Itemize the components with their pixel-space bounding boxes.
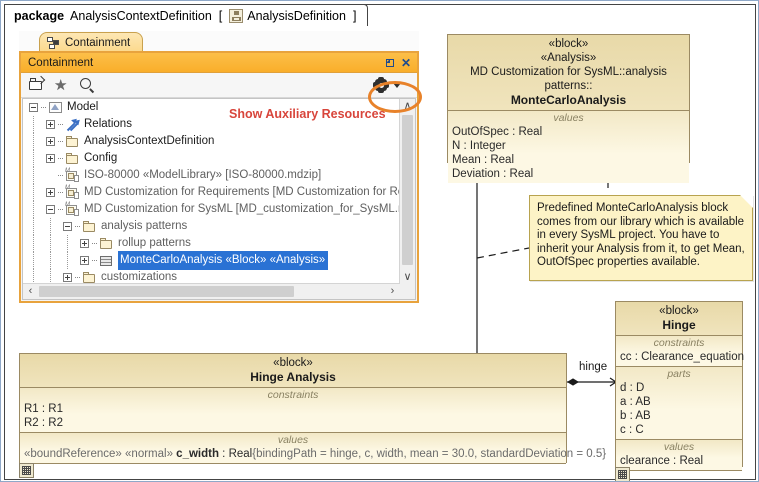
stereotype-analysis: «Analysis» [452,51,685,65]
value-property: Deviation : Real [448,167,689,181]
package-keyword: package [14,9,64,23]
block-hinge[interactable]: «block» Hinge constraints cc : Clearance… [615,301,743,467]
tree-scroll-viewport: ModelRelationsAnalysisContextDefinitionC… [23,99,400,284]
vertical-scroll-thumb[interactable] [402,115,413,265]
folder-icon [65,152,80,166]
containment-panel-wrapper: Containment Containment ✕ ★ [19,31,419,303]
compartment-title-parts: parts [616,367,742,381]
note-fold-corner [740,195,753,208]
package-name: AnalysisContextDefinition [70,9,212,23]
tree-item-rollup-patterns[interactable]: rollup patterns [23,235,400,252]
tree-connector-dots [41,101,48,114]
part-property: d : D [616,381,742,395]
tree-guide-line [33,167,34,184]
block-header-montecarloanalysis: «block» «Analysis» MD Customization for … [448,35,689,111]
tree-item-label: MonteCarloAnalysis «Block» «Analysis» [118,251,328,270]
toolbar-right-group [371,75,411,95]
tree-connector-dots [58,169,65,182]
options-group[interactable] [371,75,409,95]
relations-icon [65,118,80,132]
containment-panel: Containment ✕ ★ [19,51,419,303]
bound-reference-stereotypes: «boundReference» «normal» [24,448,173,460]
compartment-constraints: constraints R1 : R1 R2 : R2 [20,388,566,433]
scroll-up-arrow[interactable]: ∧ [400,99,415,113]
tree-item-md-customization-for-requirements-md-cus[interactable]: MMD Customization for Requirements [MD C… [23,184,400,201]
stereotype-block: «block» [24,356,562,370]
panel-title-label: Containment [28,57,93,69]
tree-guide-line [33,150,34,167]
note-line: inherit your Analysis from it, to get Me… [537,243,746,257]
tree-no-toggle [44,169,57,182]
restore-icon[interactable] [383,56,397,70]
tree-guide-line [33,235,34,252]
search-icon[interactable] [77,75,98,95]
note-line: OutOfSpec properties available. [537,256,746,270]
diagram-reference-icon[interactable] [19,463,34,478]
compartment-constraints: constraints cc : Clearance_equation [616,336,742,367]
tree-indent [23,167,44,184]
diagram-canvas: package AnalysisContextDefinition [ Anal… [0,0,759,482]
tree-collapse-toggle[interactable] [44,203,57,216]
tab-containment[interactable]: Containment [39,32,143,52]
constraint-property: R1 : R1 [20,402,566,416]
part-property: b : AB [616,409,742,423]
compartment-values: values OutOfSpec : Real N : Integer Mean… [448,111,689,183]
compartment-parts: parts d : D a : AB b : AB c : C [616,367,742,440]
compartment-title-constraints: constraints [616,336,742,350]
tree-guide-line [33,184,34,201]
block-hinge-analysis[interactable]: «block» Hinge Analysis constraints R1 : … [19,353,567,463]
tree-connector-dots [58,135,65,148]
tree-item-label: Relations [84,116,132,133]
folder-icon [99,237,114,251]
tree-guide-line [33,133,34,150]
tree-guide-line [50,252,51,269]
tree-guide-line [33,269,34,284]
tree-connector-dots [58,186,65,199]
tree-indent [23,218,61,235]
star-icon[interactable]: ★ [52,75,73,95]
package-header-tab: package AnalysisContextDefinition [ Anal… [4,4,368,26]
tree-indent [23,116,44,133]
qualified-namespace: MD Customization for SysML::analysis pat… [452,65,685,93]
constraint-property: R2 : R2 [20,416,566,430]
tree-horizontal-scrollbar[interactable]: ‹ › [23,283,400,299]
tree-indent [23,201,44,218]
bound-reference-binding: {bindingPath = hinge, c, width, mean = 3… [252,448,606,460]
note-line: in every SysML project. You have to [537,229,746,243]
folder-icon [82,271,97,285]
tree-item-iso-80000-modellibrary-iso-80000-mdzip[interactable]: MISO-80000 «ModelLibrary» [ISO-80000.mdz… [23,167,400,184]
diagram-name: AnalysisDefinition [247,9,346,23]
module-icon: M [65,203,80,217]
block-name-hinge-analysis: Hinge Analysis [24,370,562,384]
tree-item-label: Model [67,99,98,116]
constraint-property: cc : Clearance_equation [616,350,742,364]
tree-vertical-scrollbar[interactable]: ∧ ∨ [399,99,415,284]
scroll-left-arrow[interactable]: ‹ [23,284,38,298]
tree-guide-line [67,252,68,269]
tree-item-customizations[interactable]: customizations [23,269,400,284]
block-icon [99,254,114,268]
connector-label-hinge: hinge [579,361,607,373]
tree-connector-dots [92,254,99,267]
tree-connector-dots [92,237,99,250]
tree-item-config[interactable]: Config [23,150,400,167]
folder-icon [82,220,97,234]
value-property: clearance : Real [616,454,742,468]
horizontal-scroll-thumb[interactable] [39,286,294,297]
folder-icon [65,135,80,149]
panel-tab-strip: Containment [19,31,419,52]
tree-indent [23,235,78,252]
tree-expand-toggle[interactable] [44,118,57,131]
tree-connector-dots [58,118,65,131]
close-icon[interactable]: ✕ [399,56,413,70]
tree-item-label: analysis patterns [101,218,187,235]
panel-title-bar: Containment ✕ [21,53,417,73]
tree-expand-toggle[interactable] [44,135,57,148]
part-property: c : C [616,423,742,437]
tree-expand-toggle[interactable] [78,237,91,250]
containment-tree-icon [47,37,60,49]
tree-indent [23,184,44,201]
tree-indent [23,133,44,150]
compartment-title-values: values [448,111,689,125]
chevron-down-icon[interactable] [393,83,401,88]
containment-tree[interactable]: ModelRelationsAnalysisContextDefinitionC… [22,98,416,300]
tree-item-label: rollup patterns [118,235,191,252]
block-name-montecarloanalysis: MonteCarloAnalysis [452,93,685,107]
bound-reference-property: «boundReference» «normal» c_width : Real… [20,447,566,461]
bracket-open: [ [219,9,222,23]
tree-guide-line [50,269,51,284]
block-definition-diagram-icon [229,9,243,23]
tree-item-label: AnalysisContextDefinition [84,133,214,150]
bracket-close: ] [353,9,356,23]
tree-row-list: ModelRelationsAnalysisContextDefinitionC… [23,99,400,284]
value-property: OutOfSpec : Real [448,125,689,139]
module-icon: M [65,169,80,183]
scroll-right-arrow[interactable]: › [385,284,400,298]
compartment-values: values «boundReference» «normal» c_width… [20,433,566,464]
gear-icon[interactable] [373,77,389,93]
tree-connector-dots [58,203,65,216]
panel-toolbar: ★ [21,73,417,98]
stereotype-block: «block» [620,304,738,318]
scroll-down-arrow[interactable]: ∨ [400,270,415,284]
tree-item-label: MD Customization for Requirements [MD Cu… [84,184,400,201]
tree-item-analysiscontextdefinition[interactable]: AnalysisContextDefinition [23,133,400,150]
tree-item-label: ISO-80000 «ModelLibrary» [ISO-80000.mdzi… [84,167,321,184]
tree-connector-dots [58,152,65,165]
compartment-values: values clearance : Real [616,440,742,471]
tree-guide-line [50,235,51,252]
stereotype-block: «block» [452,37,685,51]
show-auxiliary-resources-annotation: Show Auxiliary Resources [229,107,386,121]
tree-guide-line [67,235,68,252]
compartment-title-constraints: constraints [20,388,566,402]
model-icon [48,101,63,115]
tree-item-montecarloanalysis-block-analysis[interactable]: MonteCarloAnalysis «Block» «Analysis» [23,252,400,269]
tree-guide-line [33,252,34,269]
tree-guide-line [33,218,34,235]
tree-item-label: customizations [101,269,177,284]
diagram-reference-icon[interactable] [615,467,630,482]
note-line: Predefined MonteCarloAnalysis block [537,202,746,216]
tree-indent [23,150,44,167]
bound-reference-type: : Real [219,448,252,460]
tree-collapse-toggle[interactable] [61,220,74,233]
tree-item-analysis-patterns[interactable]: analysis patterns [23,218,400,235]
note-line: comes from our library which is availabl… [537,216,746,230]
block-header-hinge-analysis: «block» Hinge Analysis [20,354,566,388]
value-property: N : Integer [448,139,689,153]
tab-containment-label: Containment [65,37,130,49]
comment-note[interactable]: Predefined MonteCarloAnalysis block come… [529,195,753,281]
tree-item-label: Config [84,150,117,167]
tree-connector-dots [75,220,82,233]
tree-expand-toggle[interactable] [78,254,91,267]
scrollbar-corner [400,284,415,299]
tree-guide-line [33,201,34,218]
open-in-new-window-icon[interactable] [27,75,48,95]
module-icon: M [65,186,80,200]
tree-guide-line [50,218,51,235]
tree-expand-toggle[interactable] [44,186,57,199]
tree-indent [23,252,78,269]
block-header-hinge: «block» Hinge [616,302,742,336]
tree-collapse-toggle[interactable] [27,101,40,114]
tree-indent [23,269,61,284]
block-montecarloanalysis[interactable]: «block» «Analysis» MD Customization for … [447,34,690,163]
part-property: a : AB [616,395,742,409]
tree-item-label: MD Customization for SysML [MD_customiza… [84,201,400,218]
value-property: Mean : Real [448,153,689,167]
block-name-hinge: Hinge [620,318,738,332]
compartment-title-values: values [20,433,566,447]
compartment-title-values: values [616,440,742,454]
tree-item-md-customization-for-sysml-md-customizat[interactable]: MMD Customization for SysML [MD_customiz… [23,201,400,218]
tree-expand-toggle[interactable] [44,152,57,165]
tree-guide-line [33,116,34,133]
bound-reference-name: c_width [176,448,219,460]
